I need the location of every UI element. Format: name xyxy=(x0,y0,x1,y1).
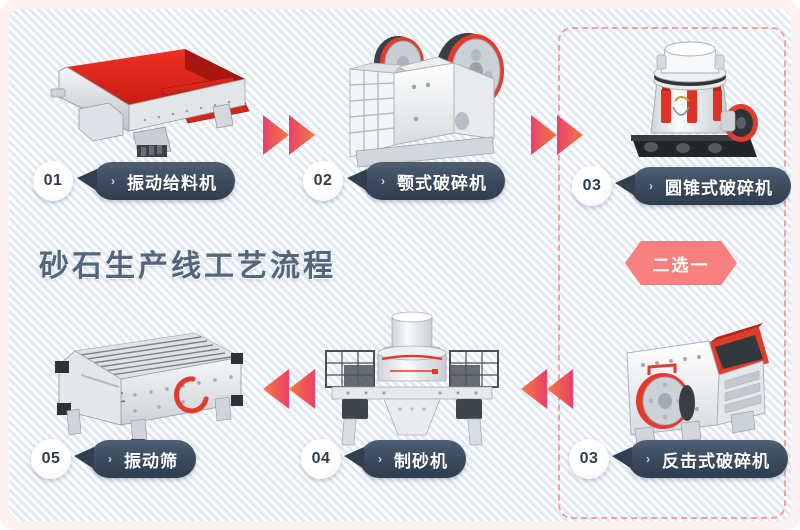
step-label-04[interactable]: › 制砂机 xyxy=(360,440,466,478)
step-badge-03-cone: 03 xyxy=(572,166,612,206)
step-number-03-cone: 03 xyxy=(583,177,602,195)
label-tail-03-impact xyxy=(612,447,632,469)
label-tail-03-cone xyxy=(615,174,635,196)
chevron-right-icon-02: › xyxy=(381,175,385,187)
step-label-text-01: 振动给料机 xyxy=(127,169,217,194)
equipment-sand-making-machine xyxy=(314,311,510,451)
poster-root: 01 › 振动给料机 xyxy=(0,0,800,530)
label-tail-04 xyxy=(344,447,364,469)
step-badge-03-impact: 03 xyxy=(569,439,609,479)
step-label-text-02: 颚式破碎机 xyxy=(397,169,487,194)
step-number-02: 02 xyxy=(314,172,333,190)
step-badge-05: 05 xyxy=(31,439,71,479)
step-label-text-04: 制砂机 xyxy=(394,447,448,472)
page-title: 砂石生产线工艺流程 xyxy=(39,241,336,285)
step-label-02[interactable]: › 颚式破碎机 xyxy=(363,162,505,200)
step-number-05: 05 xyxy=(42,450,61,468)
equipment-vibrating-feeder xyxy=(37,27,257,167)
poster-panel: 01 › 振动给料机 xyxy=(9,9,791,521)
step-badge-02: 02 xyxy=(303,161,343,201)
equipment-jaw-crusher xyxy=(342,21,527,173)
step-number-03-impact: 03 xyxy=(580,450,599,468)
alternative-choice-text: 二选一 xyxy=(653,251,710,276)
chevron-right-icon-03-impact: › xyxy=(646,453,650,465)
equipment-impact-crusher xyxy=(613,309,779,449)
chevron-right-icon-03-cone: › xyxy=(649,180,653,192)
step-label-text-03-impact: 反击式破碎机 xyxy=(662,447,770,472)
label-tail-02 xyxy=(347,169,367,191)
arrow-feeder-to-jaw xyxy=(259,107,319,168)
step-label-text-03-cone: 圆锥式破碎机 xyxy=(665,174,773,199)
step-label-01[interactable]: › 振动给料机 xyxy=(93,162,235,200)
label-tail-01 xyxy=(77,169,97,191)
arrow-jaw-to-cone xyxy=(527,107,587,168)
step-badge-04: 04 xyxy=(301,439,341,479)
step-badge-01: 01 xyxy=(33,161,73,201)
arrow-impact-to-sandmaker xyxy=(517,361,577,422)
step-label-03-cone[interactable]: › 圆锥式破碎机 xyxy=(631,167,791,205)
step-label-05[interactable]: › 振动筛 xyxy=(90,440,196,478)
arrow-sandmaker-to-screen xyxy=(259,361,319,422)
step-label-text-05: 振动筛 xyxy=(124,447,178,472)
step-label-03-impact[interactable]: › 反击式破碎机 xyxy=(628,440,788,478)
step-number-04: 04 xyxy=(312,450,331,468)
alternative-choice-tag: 二选一 xyxy=(625,241,737,285)
equipment-vibrating-screen xyxy=(35,317,251,453)
label-tail-05 xyxy=(74,447,94,469)
equipment-cone-crusher xyxy=(617,31,777,171)
chevron-right-icon-04: › xyxy=(378,453,382,465)
chevron-right-icon-01: › xyxy=(111,175,115,187)
chevron-right-icon-05: › xyxy=(108,453,112,465)
step-number-01: 01 xyxy=(44,172,63,190)
